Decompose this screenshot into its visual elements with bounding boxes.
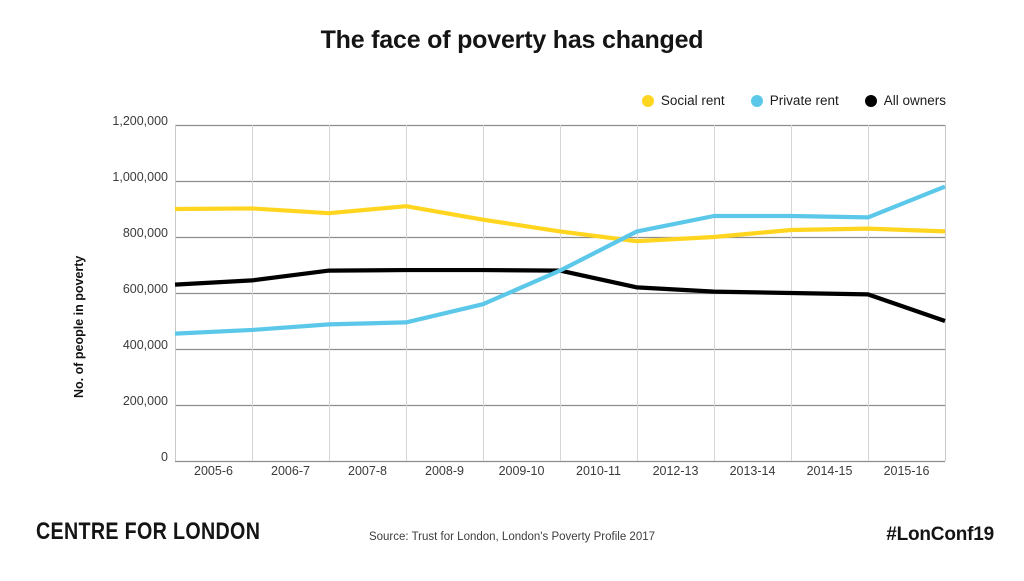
x-axis-tick-label: 2006-7 xyxy=(271,464,310,478)
x-axis-tick-labels: 2005-62006-72007-82008-92009-102010-1120… xyxy=(175,464,945,488)
x-axis-tick-label: 2015-16 xyxy=(884,464,930,478)
x-axis-tick-label: 2008-9 xyxy=(425,464,464,478)
line-chart-svg xyxy=(0,0,1024,576)
slide-canvas: The face of poverty has changed Social r… xyxy=(0,0,1024,576)
x-axis-tick-label: 2014-15 xyxy=(807,464,853,478)
event-hashtag: #LonConf19 xyxy=(886,524,994,546)
x-axis-tick-label: 2012-13 xyxy=(653,464,699,478)
chart-plot-wrapper xyxy=(0,0,1024,576)
x-axis-tick-label: 2005-6 xyxy=(194,464,233,478)
x-axis-tick-label: 2010-11 xyxy=(576,464,621,478)
x-axis-tick-label: 2007-8 xyxy=(348,464,387,478)
source-note: Source: Trust for London, London's Pover… xyxy=(0,531,1024,543)
x-axis-tick-label: 2009-10 xyxy=(499,464,545,478)
x-axis-tick-label: 2013-14 xyxy=(730,464,776,478)
